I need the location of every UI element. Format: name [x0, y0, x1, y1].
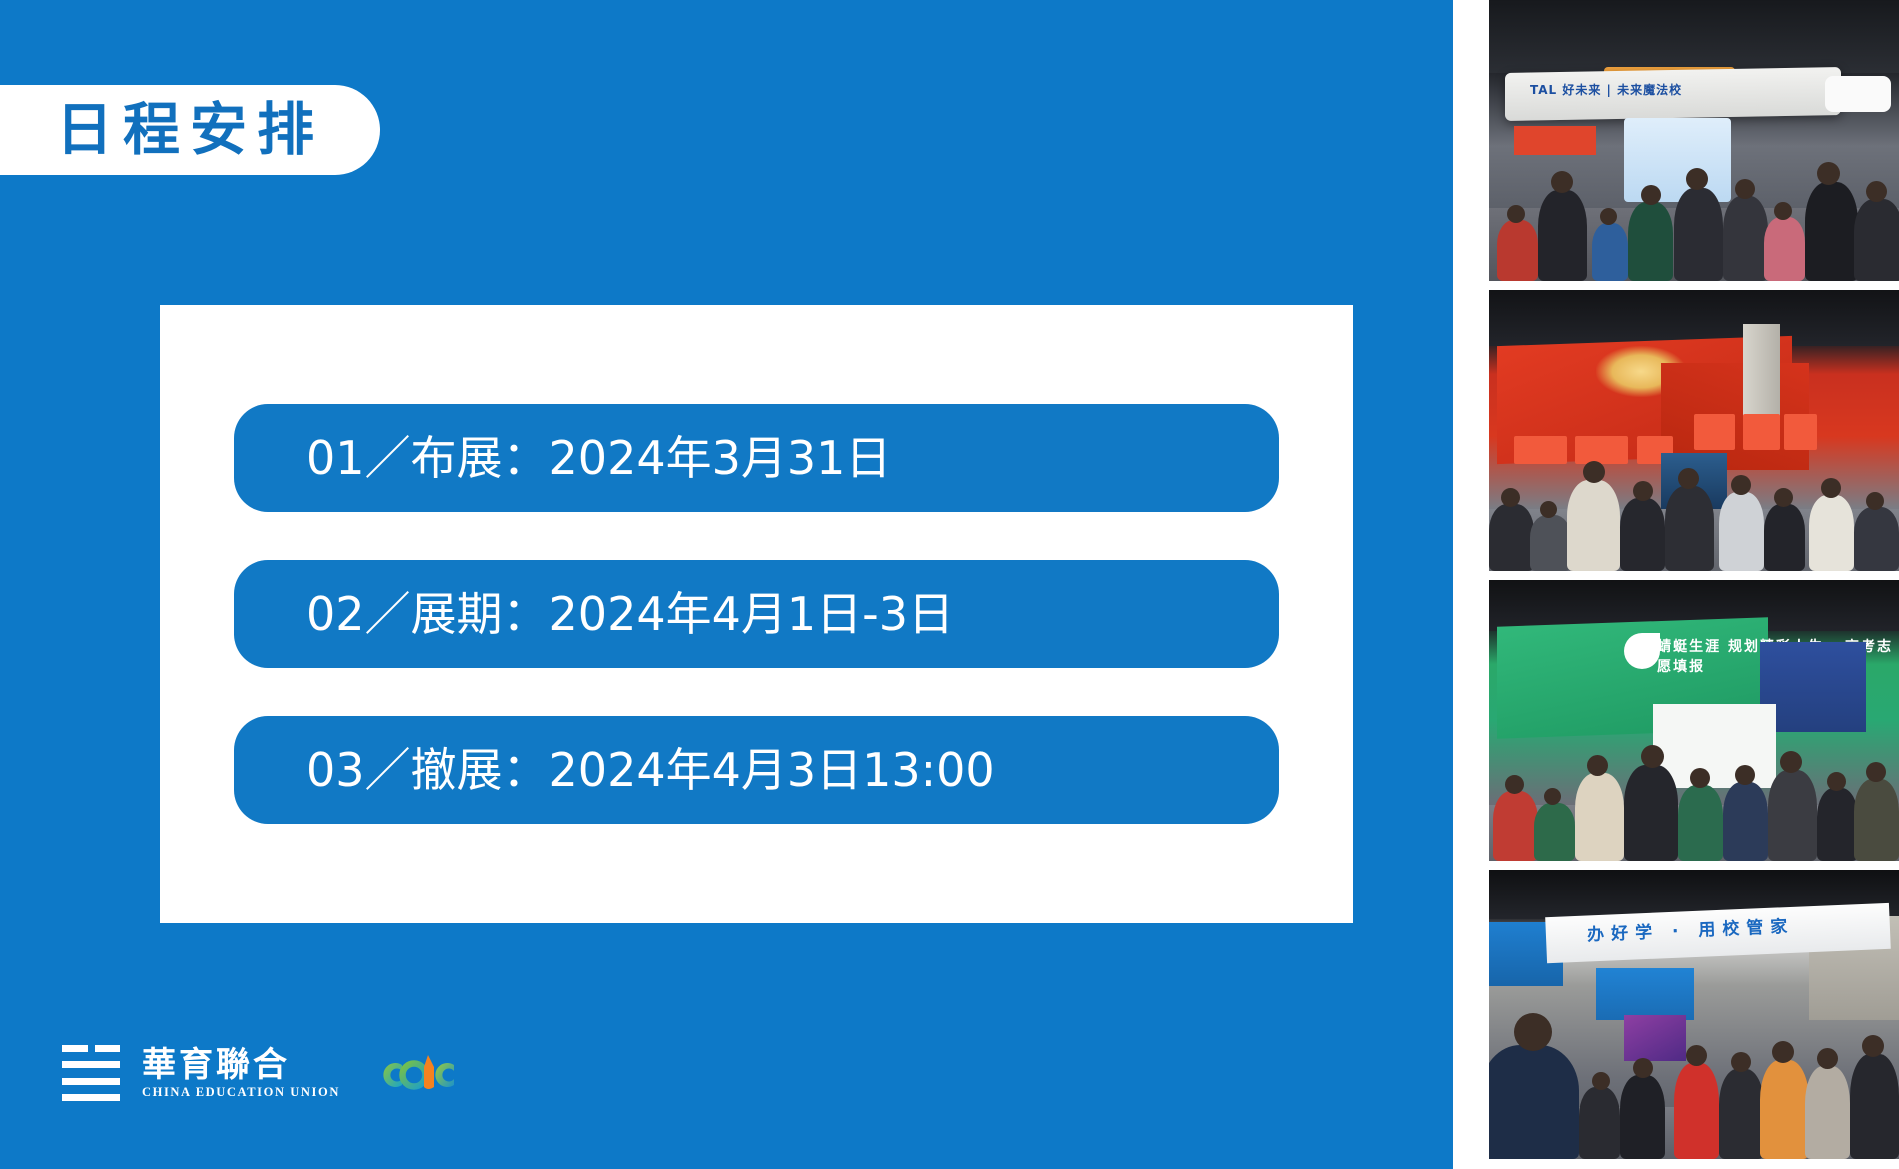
schedule-card: 01／布展：2024年3月31日 02／展期：2024年4月1日-3日 03／撤…: [160, 305, 1353, 923]
photo-strip: TAL 好未来 | 未来魔法校: [1489, 0, 1899, 1169]
logo-wordmark: 華育聯合 CHINA EDUCATION UNION: [142, 1048, 340, 1098]
schedule-row-text: 01／布展：2024年3月31日: [306, 435, 891, 481]
photo-booth-text: TAL 好未来 | 未来魔法校: [1530, 81, 1682, 98]
schedule-row[interactable]: 03／撤展：2024年4月3日13:00: [234, 716, 1279, 824]
schedule-row[interactable]: 02／展期：2024年4月1日-3日: [234, 560, 1279, 668]
logo-bar: 華育聯合 CHINA EDUCATION UNION: [62, 1045, 458, 1101]
blue-background-panel: 日程安排 01／布展：2024年3月31日 02／展期：2024年4月1日-3日…: [0, 0, 1453, 1169]
photo-red-ai-booth: [1489, 290, 1899, 571]
page-title-pill: 日程安排: [0, 85, 380, 175]
logo-chinese-name: 華育聯合: [142, 1048, 340, 1084]
schedule-row[interactable]: 01／布展：2024年3月31日: [234, 404, 1279, 512]
crowd-silhouettes: [1489, 135, 1899, 281]
crowd-silhouettes: [1489, 425, 1899, 571]
page-title: 日程安排: [56, 102, 324, 159]
china-education-union-mark-icon: [62, 1045, 120, 1101]
schedule-row-text: 03／撤展：2024年4月3日13:00: [306, 747, 995, 793]
photo-tal-booth: TAL 好未来 | 未来魔法校: [1489, 0, 1899, 281]
photo-green-career-booth: 蜻蜓生涯 规划精彩人生 · 高考志愿填报: [1489, 580, 1899, 861]
crowd-silhouettes: [1489, 715, 1899, 861]
photo-school-manager-booth: 办好学 · 用校管家: [1489, 870, 1899, 1159]
crowd-silhouettes: [1489, 1009, 1899, 1159]
slide-root: 日程安排 01／布展：2024年3月31日 02／展期：2024年4月1日-3日…: [0, 0, 1899, 1169]
cetc-logo-icon: [380, 1051, 458, 1095]
schedule-row-text: 02／展期：2024年4月1日-3日: [306, 591, 954, 637]
logo-english-name: CHINA EDUCATION UNION: [142, 1086, 340, 1099]
